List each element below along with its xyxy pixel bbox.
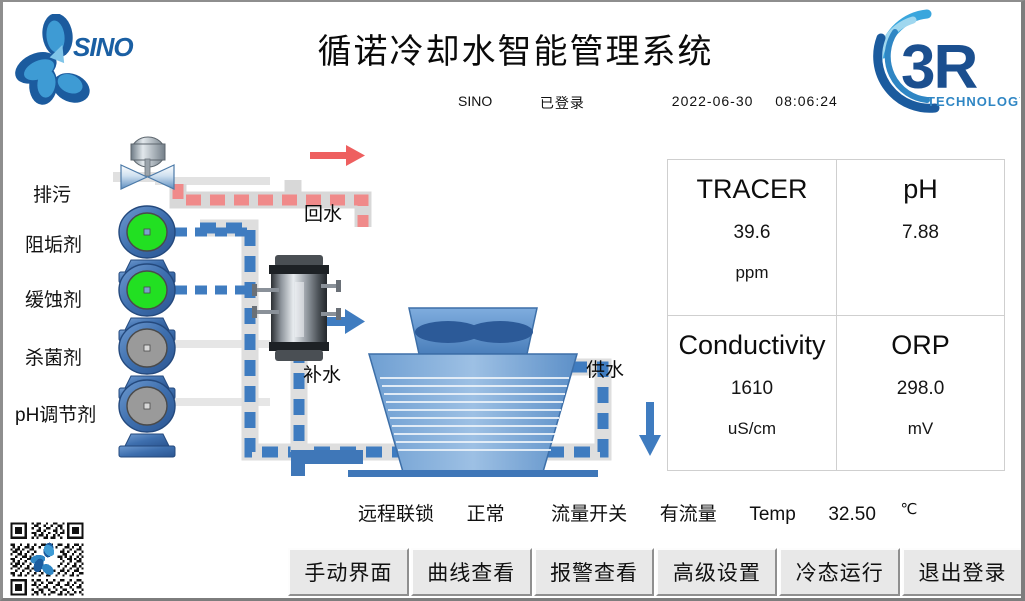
- logout-button[interactable]: 退出登录: [902, 548, 1023, 596]
- label-supply-water: 供水: [586, 355, 624, 382]
- toolbar: 手动界面 曲线查看 报警查看 高级设置 冷态运行 退出登录: [288, 548, 1023, 596]
- measurement-orp: ORP 298.0 mV: [836, 315, 1004, 470]
- measurement-value: 298.0: [897, 378, 945, 400]
- session-state: 已登录: [540, 93, 668, 113]
- measurement-unit: ppm: [735, 263, 768, 283]
- process-flow-diagram: [3, 132, 663, 477]
- trend-view-button[interactable]: 曲线查看: [411, 548, 532, 596]
- page-title: 循诺冷却水智能管理系统: [3, 24, 1025, 73]
- label-return-water: 回水: [304, 199, 342, 226]
- interlock-value: 正常: [467, 499, 505, 526]
- return-flow-arrow: [310, 145, 365, 166]
- scada-screen: SINO 3R TECHNOLOGY 循诺冷却水智能管理系统 SINO 已登录 …: [0, 0, 1025, 601]
- temp-label: Temp: [749, 504, 795, 526]
- session-time: 08:06:24: [775, 93, 838, 109]
- measurement-tracer: TRACER 39.6 ppm: [668, 160, 836, 315]
- measurement-value: 7.88: [902, 222, 939, 244]
- advanced-settings-button[interactable]: 高级设置: [656, 548, 777, 596]
- measurement-unit: uS/cm: [728, 419, 776, 439]
- measurement-ph: pH 7.88: [836, 160, 1004, 315]
- measurement-value: 1610: [731, 378, 773, 400]
- measurement-panel: TRACER 39.6 ppm pH 7.88 Conductivity 161…: [667, 159, 1005, 471]
- tower-body: [369, 354, 577, 472]
- qr-code[interactable]: [8, 520, 86, 598]
- pump-ph-adjuster[interactable]: [119, 380, 175, 457]
- cold-start-button[interactable]: 冷态运行: [779, 548, 900, 596]
- measurement-unit: mV: [908, 419, 934, 439]
- measurement-conductivity: Conductivity 1610 uS/cm: [668, 315, 836, 470]
- measurement-name: pH: [903, 174, 938, 205]
- tower-fan: [409, 308, 537, 354]
- measurement-name: Conductivity: [678, 330, 825, 361]
- temp-unit: ℃: [900, 500, 917, 518]
- session-date: 2022-06-30: [672, 93, 754, 109]
- session-status-line: SINO 已登录 2022-06-30 08:06:24: [458, 93, 978, 115]
- tower-basin-lip: [348, 470, 598, 477]
- interlock-label: 远程联锁: [358, 499, 434, 526]
- label-makeup-water: 补水: [303, 360, 341, 387]
- session-user: SINO: [458, 93, 536, 109]
- measurement-name: TRACER: [696, 174, 807, 205]
- flowswitch-value: 有流量: [660, 499, 717, 526]
- measurement-value: 39.6: [734, 222, 771, 244]
- measurement-name: ORP: [891, 330, 950, 361]
- temp-value: 32.50: [828, 504, 876, 526]
- alarm-view-button[interactable]: 报警查看: [534, 548, 655, 596]
- plant-status-row: 远程联锁 正常 流量开关 有流量 Temp 32.50 ℃: [358, 499, 917, 527]
- manual-interface-button[interactable]: 手动界面: [288, 548, 409, 596]
- blowdown-valve-icon[interactable]: [113, 137, 174, 189]
- flowswitch-label: 流量开关: [551, 499, 627, 526]
- supply-flow-arrow: [639, 402, 661, 456]
